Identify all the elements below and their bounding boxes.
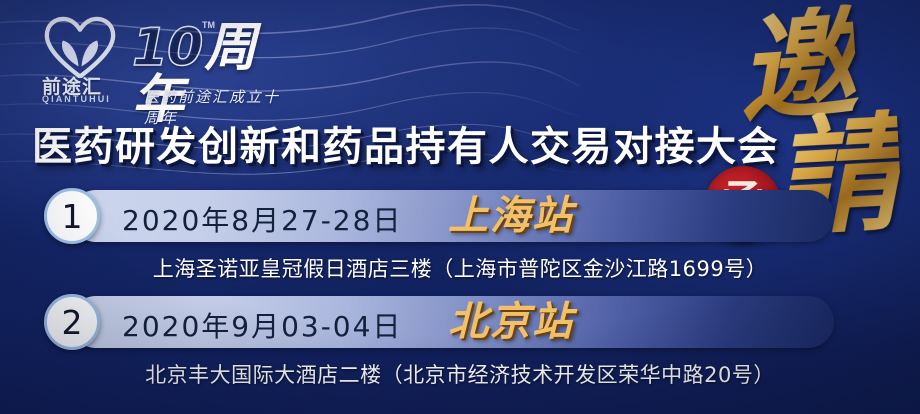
session-venue: 北京丰大国际大酒店二楼（北京市经济技术开发区荣华中路20号） <box>0 359 920 389</box>
anniversary-number: 10 <box>132 18 204 78</box>
session-number: 2 <box>62 306 83 339</box>
session-date: 2020年9月03-04日 <box>122 305 402 345</box>
event-poster: 前途汇 QIANTUHUI 10周年 TM 医药前途汇成立十周年 医药研发创新和… <box>0 0 920 414</box>
session-row: 2 2020年9月03-04日 北京站 <box>44 294 834 350</box>
session-number: 1 <box>62 200 83 233</box>
session-date: 2020年8月27-28日 <box>122 199 402 239</box>
heart-leaf-icon <box>44 16 116 78</box>
trademark-icon: TM <box>202 20 215 30</box>
session-city: 北京站 <box>448 296 574 348</box>
session-number-badge: 2 <box>44 294 100 350</box>
session-number-badge: 1 <box>44 188 100 244</box>
session-venue: 上海圣诺亚皇冠假日酒店三楼（上海市普陀区金沙江路1699号） <box>0 253 920 283</box>
brand-name-en: QIANTUHUI <box>42 94 111 104</box>
calligraphy-char-yao: 邀 <box>734 4 860 130</box>
session-city: 上海站 <box>448 190 574 242</box>
page-title: 医药研发创新和药品持有人交易对接大会 <box>32 114 779 172</box>
session-row: 1 2020年8月27-28日 上海站 <box>44 188 834 244</box>
brand-logo-block: 前途汇 QIANTUHUI 10周年 TM 医药前途汇成立十周年 <box>36 14 296 106</box>
